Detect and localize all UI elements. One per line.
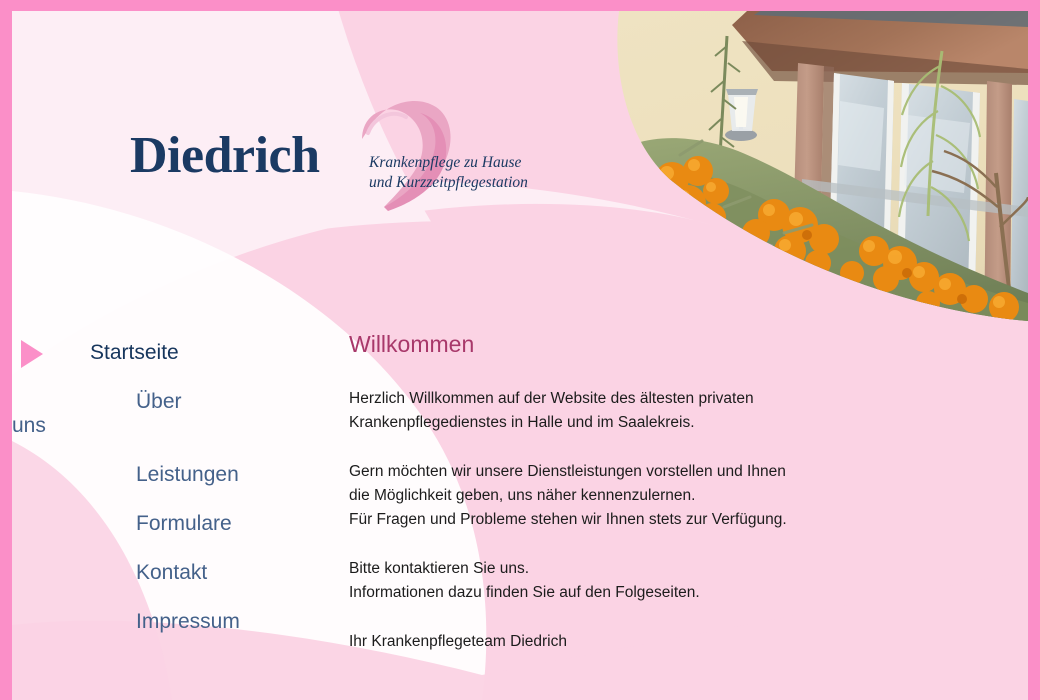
site-logo[interactable]: Diedrich Krankenpflege zu Hause und Kurz… [122,103,562,223]
nav-item-uns[interactable]: uns [12,414,46,438]
content-paragraph: Gern möchten wir unsere Dienstleistungen… [349,460,989,532]
nav-item-startseite[interactable]: Startseite [90,341,179,365]
content-paragraph: Bitte kontaktieren Sie uns. Informatione… [349,557,989,605]
photo-content [612,11,1028,341]
content-paragraph: Herzlich Willkommen auf der Website des … [349,387,989,435]
page-frame: Diedrich Krankenpflege zu Hause und Kurz… [0,0,1040,700]
main-content: Willkommen Herzlich Willkommen auf der W… [349,331,989,654]
active-arrow-icon [21,340,43,368]
nav-item-impressum[interactable]: Impressum [136,610,240,634]
nav-item-formulare[interactable]: Formulare [136,512,232,536]
nav-item-kontakt[interactable]: Kontakt [136,561,207,585]
page-title: Willkommen [349,331,989,359]
tagline: Krankenpflege zu Hause und Kurzzeitpfleg… [369,153,528,194]
nav-item-leistungen[interactable]: Leistungen [136,463,239,487]
brand-name: Diedrich [130,130,320,182]
nav-item-ueber[interactable]: Über [136,390,182,414]
content-paragraph: Ihr Krankenpflegeteam Diedrich [349,630,989,654]
page-canvas: Diedrich Krankenpflege zu Hause und Kurz… [12,11,1028,700]
